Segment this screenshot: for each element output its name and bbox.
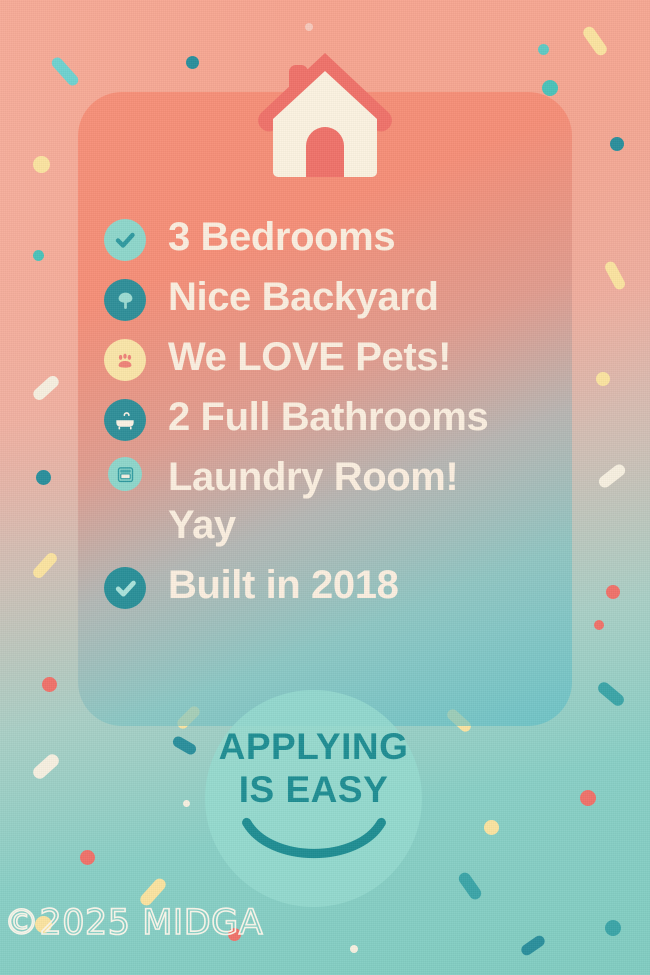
confetti-dot — [605, 920, 621, 936]
confetti-stick — [31, 752, 62, 782]
check-circle-icon — [104, 567, 146, 609]
confetti-dot — [580, 790, 596, 806]
confetti-stick — [581, 24, 609, 57]
feature-label: Laundry Room! Yay — [168, 453, 458, 549]
feature-label: Built in 2018 — [168, 561, 398, 609]
confetti-dot — [610, 137, 624, 151]
feature-label: 2 Full Bathrooms — [168, 393, 488, 441]
confetti-stick — [596, 680, 627, 708]
confetti-dot — [542, 80, 558, 96]
confetti-stick — [594, 620, 604, 630]
feature-row-laundry: Laundry Room! Yay — [104, 453, 574, 549]
confetti-dot — [350, 945, 358, 953]
confetti-stick — [519, 934, 547, 958]
cta-line-2: IS EASY — [239, 768, 389, 812]
check-circle-icon — [104, 219, 146, 261]
confetti-stick — [603, 260, 627, 292]
confetti-stick — [456, 870, 483, 901]
confetti-dot — [538, 44, 549, 55]
confetti-dot — [596, 372, 610, 386]
paw-print-icon — [104, 339, 146, 381]
feature-row-bathrooms: 2 Full Bathrooms — [104, 393, 574, 441]
cta-line-1: APPLYING — [219, 726, 409, 768]
house-icon — [253, 43, 397, 188]
confetti-dot — [33, 156, 50, 173]
washing-machine-icon — [108, 457, 142, 491]
confetti-dot — [186, 56, 199, 69]
confetti-dot — [42, 677, 57, 692]
confetti-dot — [36, 470, 51, 485]
copyright-text: ©2025 MIDGA — [4, 903, 263, 943]
feature-row-bedrooms: 3 Bedrooms — [104, 213, 574, 261]
applying-is-easy-badge[interactable]: APPLYING IS EASY — [205, 690, 422, 907]
feature-list: 3 Bedrooms Nice Backyard We LOVE Pet — [104, 213, 574, 621]
confetti-stick — [31, 551, 59, 581]
confetti-dot — [484, 820, 499, 835]
smile-arc-icon — [238, 816, 390, 866]
confetti-stick — [171, 734, 198, 756]
confetti-stick — [31, 374, 61, 403]
confetti-stick — [305, 23, 313, 31]
confetti-dot — [33, 250, 44, 261]
confetti-dot — [183, 800, 190, 807]
feature-label: Nice Backyard — [168, 273, 439, 321]
bathtub-icon — [104, 399, 146, 441]
poster-canvas: 3 Bedrooms Nice Backyard We LOVE Pet — [0, 0, 650, 975]
confetti-stick — [596, 462, 627, 490]
feature-label: We LOVE Pets! — [168, 333, 451, 381]
confetti-stick — [50, 55, 81, 88]
tree-icon — [104, 279, 146, 321]
feature-row-backyard: Nice Backyard — [104, 273, 574, 321]
confetti-dot — [80, 850, 95, 865]
feature-row-built: Built in 2018 — [104, 561, 574, 609]
feature-label: 3 Bedrooms — [168, 213, 395, 261]
feature-row-pets: We LOVE Pets! — [104, 333, 574, 381]
confetti-dot — [606, 585, 620, 599]
